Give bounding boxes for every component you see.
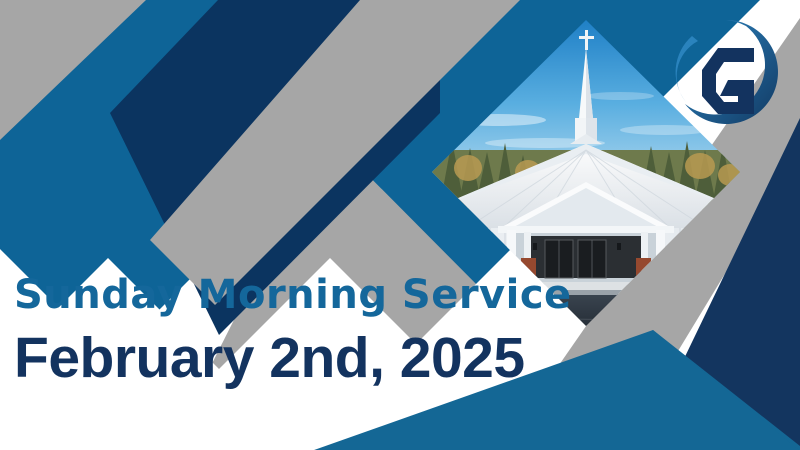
logo-swoosh-tail xyxy=(676,36,698,102)
wall-sconce xyxy=(533,243,537,250)
cross-vertical xyxy=(585,30,588,50)
brick-base xyxy=(653,264,670,290)
cloud xyxy=(450,114,546,126)
portico-beam xyxy=(498,226,674,233)
slide-canvas: Sunday Morning Service February 2nd, 202… xyxy=(0,0,800,450)
logo-letter-g xyxy=(702,48,754,114)
cloud xyxy=(586,92,654,100)
g-swoosh-logo xyxy=(662,8,790,136)
lot-stripe xyxy=(676,300,700,330)
headline-sunday-morning-service: Sunday Morning Service xyxy=(14,272,572,318)
lot-crack xyxy=(500,318,640,320)
date-line: February 2nd, 2025 xyxy=(14,325,525,391)
wall-sconce xyxy=(617,243,621,250)
portico-column xyxy=(641,232,648,282)
portico-column xyxy=(656,230,665,285)
cross-horizontal xyxy=(579,36,594,39)
brick-base xyxy=(636,258,651,288)
